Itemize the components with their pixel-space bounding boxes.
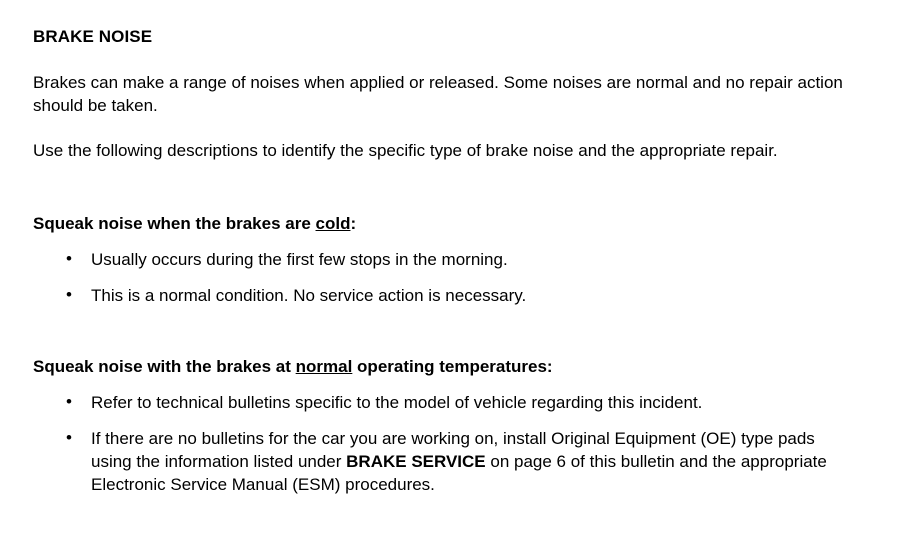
list-item: Refer to technical bulletins specific to… — [33, 391, 846, 414]
document-page: BRAKE NOISE Brakes can make a range of n… — [0, 0, 898, 549]
section-heading-cold: Squeak noise when the brakes are cold: — [33, 212, 846, 235]
spacer — [33, 48, 846, 71]
intro-paragraph-2: Use the following descriptions to identi… — [33, 139, 846, 162]
spacer — [33, 307, 846, 355]
section-heading-cold-keyword: cold — [316, 214, 351, 233]
spacer — [33, 162, 846, 212]
section-heading-normal-suffix: operating temperatures: — [352, 357, 552, 376]
bullet-list-cold: Usually occurs during the first few stop… — [33, 248, 846, 307]
section-heading-normal-prefix: Squeak noise with the brakes at — [33, 357, 296, 376]
section-cold-brakes: Squeak noise when the brakes are cold: U… — [33, 212, 846, 307]
list-item: If there are no bulletins for the car yo… — [33, 427, 846, 496]
spacer — [33, 117, 846, 139]
section-heading-cold-prefix: Squeak noise when the brakes are — [33, 214, 316, 233]
section-heading-normal: Squeak noise with the brakes at normal o… — [33, 355, 846, 378]
intro-paragraph-1: Brakes can make a range of noises when a… — [33, 71, 846, 117]
list-item: Usually occurs during the first few stop… — [33, 248, 846, 271]
brake-service-reference: BRAKE SERVICE — [346, 452, 486, 471]
list-item: This is a normal condition. No service a… — [33, 284, 846, 307]
page-title: BRAKE NOISE — [33, 26, 846, 48]
section-normal-temps: Squeak noise with the brakes at normal o… — [33, 355, 846, 496]
bullet-list-normal: Refer to technical bulletins specific to… — [33, 391, 846, 496]
section-heading-normal-keyword: normal — [296, 357, 353, 376]
section-heading-cold-suffix: : — [350, 214, 356, 233]
